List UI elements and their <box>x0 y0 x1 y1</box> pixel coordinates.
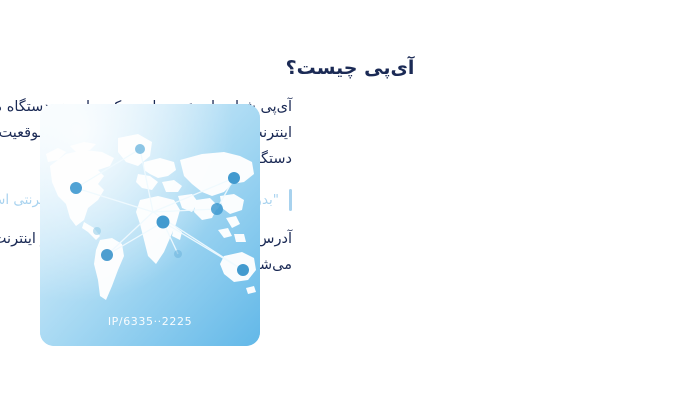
world-map-card: IP/6335··2225 <box>40 104 260 346</box>
page-root: آی‌پی چیست؟ آی‌پی شناسه‌ای عددی است که ب… <box>0 0 700 400</box>
ip-address-label: IP/6335··2225 <box>40 315 260 328</box>
page-title: آی‌پی چیست؟ <box>0 57 700 79</box>
quote-accent-bar <box>289 189 292 211</box>
world-map-illustration <box>40 104 260 346</box>
